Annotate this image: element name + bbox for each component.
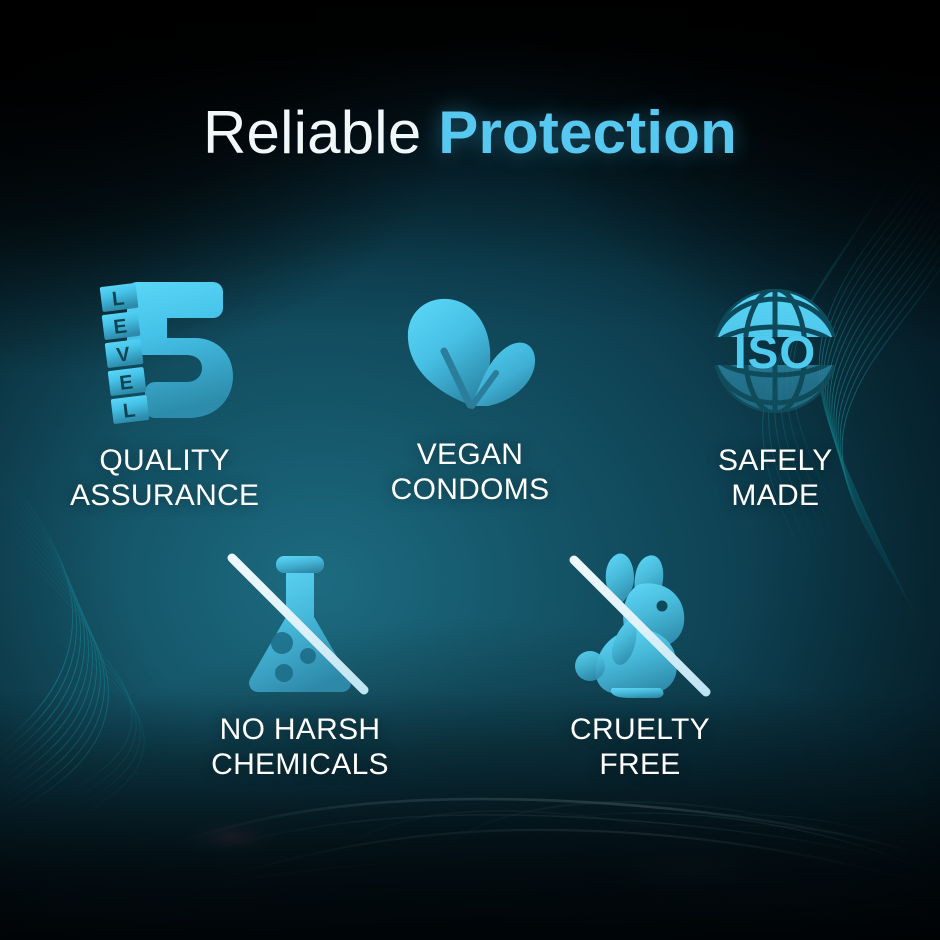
feature-safely-made: ISO SAFELY MADE (671, 272, 880, 513)
feature-vegan-condoms: VEGAN CONDOMS (365, 272, 574, 507)
feature-label: CRUELTY FREE (570, 713, 710, 782)
feature-label: QUALITY ASSURANCE (70, 444, 259, 513)
feature-label: SAFELY MADE (718, 444, 833, 513)
svg-text:E: E (118, 371, 134, 394)
feature-no-harsh-chemicals: NO HARSH CHEMICALS (185, 545, 415, 782)
flask-no-slash-icon (224, 545, 376, 703)
feature-label: VEGAN CONDOMS (391, 438, 550, 507)
iso-globe-text: ISO (734, 326, 816, 378)
feature-row-top: L E V E L QUALITY ASSURANCE (60, 272, 880, 513)
level-5-badge-icon: L E V E L (89, 272, 241, 430)
page-title: Reliable Protection (0, 103, 940, 163)
leaf-icon (400, 272, 540, 424)
svg-text:E: E (112, 315, 128, 338)
iso-globe-icon: ISO (707, 272, 843, 430)
promo-banner: Reliable Protection (0, 0, 940, 940)
feature-row-bottom: NO HARSH CHEMICALS (175, 545, 765, 782)
rabbit-no-slash-icon (564, 545, 716, 703)
page-title-light: Reliable (203, 99, 421, 166)
feature-quality-assurance: L E V E L QUALITY ASSURANCE (60, 272, 269, 513)
feature-cruelty-free: CRUELTY FREE (525, 545, 755, 782)
page-title-bold: Protection (438, 99, 737, 166)
feature-label: NO HARSH CHEMICALS (211, 713, 389, 782)
